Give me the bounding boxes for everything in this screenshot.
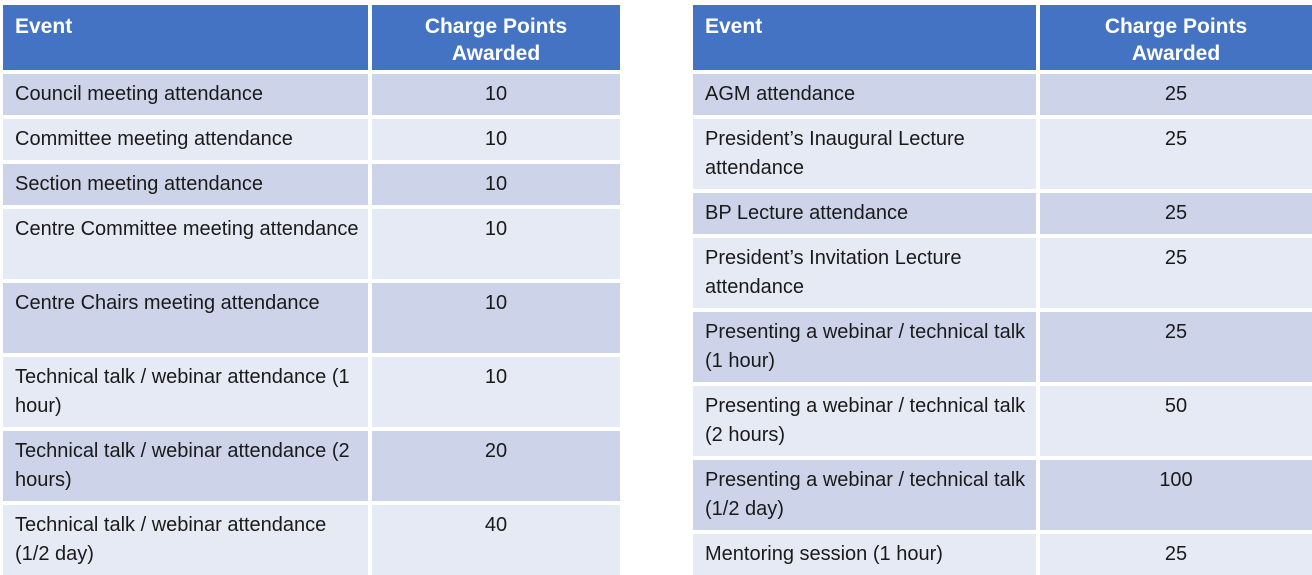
column-header-event: Event [693, 5, 1036, 70]
cell-points: 10 [372, 119, 620, 160]
cell-points: 25 [1040, 534, 1312, 575]
table-body: AGM attendance 25 President’s Inaugural … [693, 74, 1312, 575]
column-header-line-2: Awarded [1132, 42, 1220, 65]
column-header-line-1: Charge Points [1105, 15, 1247, 38]
column-header-charge-points-awarded: Charge Points Awarded [1040, 5, 1312, 70]
table-row: Technical talk / webinar attendance (1/2… [3, 505, 620, 575]
lectures-and-presenting-points-table: Event Charge Points Awarded AGM attendan… [693, 5, 1312, 575]
cell-points: 25 [1040, 74, 1312, 115]
column-header-line-2: Awarded [452, 42, 540, 65]
cell-points: 25 [1040, 119, 1312, 189]
table-row: Mentoring session (1 hour) 25 [693, 534, 1312, 575]
table-row: Centre Committee meeting attendance 10 [3, 209, 620, 279]
cell-event: BP Lecture attendance [693, 193, 1036, 234]
cell-event: President’s Inaugural Lecture attendance [693, 119, 1036, 189]
cell-event: Technical talk / webinar attendance (2 h… [3, 431, 368, 501]
cell-points: 100 [1040, 460, 1312, 530]
cell-points: 25 [1040, 312, 1312, 382]
cell-event: Presenting a webinar / technical talk (1… [693, 312, 1036, 382]
cell-event: Section meeting attendance [3, 164, 368, 205]
column-header-line-1: Charge Points [425, 15, 567, 38]
table-header-row: Event Charge Points Awarded [3, 5, 620, 70]
cell-event: Mentoring session (1 hour) [693, 534, 1036, 575]
cell-event: Centre Chairs meeting attendance [3, 283, 368, 353]
table-row: Section meeting attendance 10 [3, 164, 620, 205]
cell-event: Presenting a webinar / technical talk (2… [693, 386, 1036, 456]
cell-event: Committee meeting attendance [3, 119, 368, 160]
cell-points: 20 [372, 431, 620, 501]
cell-points: 10 [372, 74, 620, 115]
cell-points: 10 [372, 209, 620, 279]
cell-points: 10 [372, 164, 620, 205]
cell-event: Council meeting attendance [3, 74, 368, 115]
table-row: Council meeting attendance 10 [3, 74, 620, 115]
table-row: Committee meeting attendance 10 [3, 119, 620, 160]
cell-event: Technical talk / webinar attendance (1 h… [3, 357, 368, 427]
table-row: Presenting a webinar / technical talk (1… [693, 312, 1312, 382]
attendance-points-table: Event Charge Points Awarded Council meet… [3, 5, 620, 575]
cell-points: 25 [1040, 193, 1312, 234]
cell-event: Centre Committee meeting attendance [3, 209, 368, 279]
cell-event: AGM attendance [693, 74, 1036, 115]
table-row: President’s Inaugural Lecture attendance… [693, 119, 1312, 189]
cell-event: Presenting a webinar / technical talk (1… [693, 460, 1036, 530]
table-row: Technical talk / webinar attendance (2 h… [3, 431, 620, 501]
cell-points: 10 [372, 283, 620, 353]
table-row: Presenting a webinar / technical talk (2… [693, 386, 1312, 456]
cell-points: 25 [1040, 238, 1312, 308]
table-body: Council meeting attendance 10 Committee … [3, 74, 620, 575]
cell-points: 50 [1040, 386, 1312, 456]
table-row: BP Lecture attendance 25 [693, 193, 1312, 234]
cell-points: 10 [372, 357, 620, 427]
table-row: Presenting a webinar / technical talk (1… [693, 460, 1312, 530]
table-row: AGM attendance 25 [693, 74, 1312, 115]
column-header-charge-points-awarded: Charge Points Awarded [372, 5, 620, 70]
table-row: Technical talk / webinar attendance (1 h… [3, 357, 620, 427]
cell-points: 40 [372, 505, 620, 575]
page-root: Event Charge Points Awarded Council meet… [0, 0, 1312, 567]
cell-event: President’s Invitation Lecture attendanc… [693, 238, 1036, 308]
cell-event: Technical talk / webinar attendance (1/2… [3, 505, 368, 575]
column-header-event: Event [3, 5, 368, 70]
table-header-row: Event Charge Points Awarded [693, 5, 1312, 70]
table-row: President’s Invitation Lecture attendanc… [693, 238, 1312, 308]
table-row: Centre Chairs meeting attendance 10 [3, 283, 620, 353]
